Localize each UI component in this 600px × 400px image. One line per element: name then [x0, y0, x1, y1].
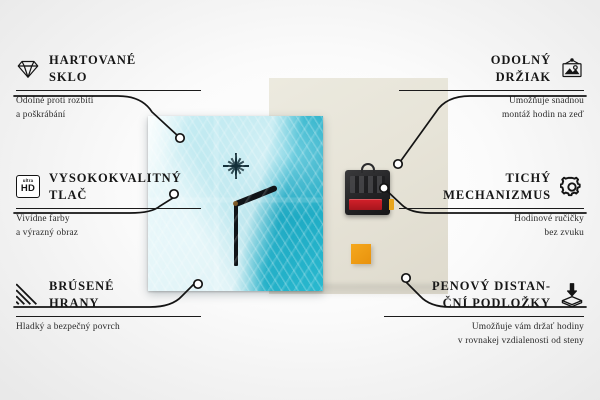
picture-frame-hanger-icon: [560, 57, 584, 81]
feature-header: BRÚSENÉ HRANY: [16, 278, 201, 311]
callout-dot-4: [394, 160, 402, 168]
diamond-icon: [16, 57, 40, 81]
divider: [384, 316, 584, 317]
feature-high-quality-print: ultra HD VYSOKOKVALITNÝ TLAČ Vivídne far…: [16, 170, 201, 240]
arrow-onto-layers-icon: [560, 283, 584, 307]
feature-header: ultra HD VYSOKOKVALITNÝ TLAČ: [16, 170, 201, 203]
feature-title: HARTOVANÉ SKLO: [49, 52, 136, 85]
feature-description: Umožňuje vám držať hodiny v rovnakej vzd…: [384, 321, 584, 348]
feature-title: PENOVÝ DISTAN- ČNÍ PODLOŽKY: [432, 278, 551, 311]
feature-title: TICHÝ MECHANIZMUS: [443, 170, 551, 203]
feature-header: TICHÝ MECHANIZMUS: [399, 170, 584, 203]
divider: [399, 90, 584, 91]
gear-icon: [560, 175, 584, 199]
callout-dot-5: [380, 184, 388, 192]
callout-dot-1: [176, 134, 184, 142]
feature-header: ODOLNÝ DRŽIAK: [399, 52, 584, 85]
ultra-hd-badge-icon: ultra HD: [16, 175, 40, 198]
feature-polished-edges: BRÚSENÉ HRANY Hladký a bezpečný povrch: [16, 278, 201, 335]
feature-tempered-glass: HARTOVANÉ SKLO Odolné proti rozbití a po…: [16, 52, 201, 122]
divider: [16, 316, 201, 317]
feature-silent-mechanism: TICHÝ MECHANIZMUS Hodinové ručičky bez z…: [399, 170, 584, 240]
divider: [399, 208, 584, 209]
feature-foam-spacers: PENOVÝ DISTAN- ČNÍ PODLOŽKY Umožňuje vám…: [384, 278, 584, 348]
infographic-stage: HARTOVANÉ SKLO Odolné proti rozbití a po…: [0, 0, 600, 400]
feature-header: PENOVÝ DISTAN- ČNÍ PODLOŽKY: [384, 278, 584, 311]
feature-description: Umožňuje snadnou montáž hodin na zeď: [399, 95, 584, 122]
brushed-edge-icon: [16, 283, 40, 307]
feature-description: Hladký a bezpečný povrch: [16, 321, 201, 335]
feature-description: Hodinové ručičky bez zvuku: [399, 213, 584, 240]
feature-title: BRÚSENÉ HRANY: [49, 278, 114, 311]
feature-description: Vivídne farby a výrazný obraz: [16, 213, 201, 240]
divider: [16, 208, 201, 209]
feature-title: ODOLNÝ DRŽIAK: [491, 52, 551, 85]
feature-description: Odolné proti rozbití a poškrábání: [16, 95, 201, 122]
feature-header: HARTOVANÉ SKLO: [16, 52, 201, 85]
feature-title: VYSOKOKVALITNÝ TLAČ: [49, 170, 182, 203]
feature-durable-hanger: ODOLNÝ DRŽIAK Umožňuje snadnou montáž ho…: [399, 52, 584, 122]
divider: [16, 90, 201, 91]
